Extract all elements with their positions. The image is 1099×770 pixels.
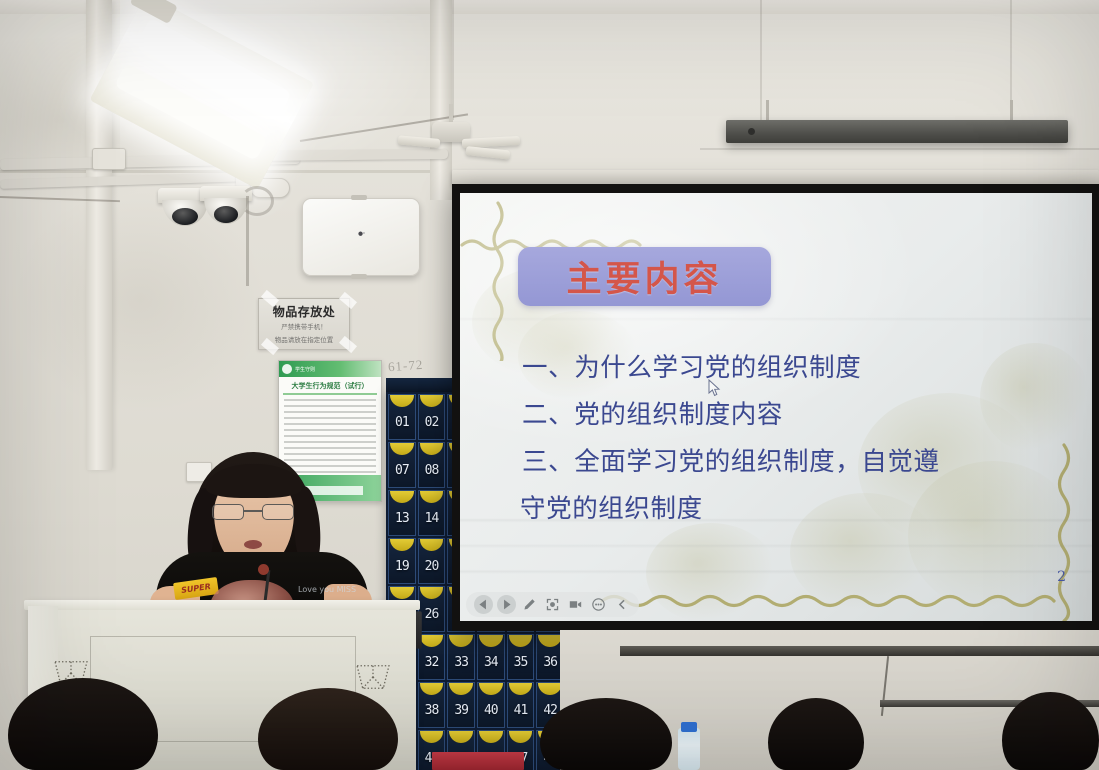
phone-pocket-number: 32 bbox=[419, 655, 445, 670]
ceiling-seam-4 bbox=[700, 148, 1099, 150]
presenter: SUPER Love you MISS bbox=[148, 452, 378, 620]
phone-pocket-number: 26 bbox=[419, 607, 445, 622]
phone-pocket[interactable]: 34 bbox=[477, 634, 505, 680]
poster-header-text: 学生守则 bbox=[295, 366, 315, 373]
phone-pocket-number: 20 bbox=[419, 559, 445, 574]
cup-motif-icon bbox=[354, 662, 392, 692]
next-slide-button[interactable] bbox=[497, 595, 516, 614]
decor-wavy-lines-right bbox=[1048, 443, 1082, 621]
phone-pocket[interactable]: 13 bbox=[388, 490, 416, 536]
camera-cable bbox=[246, 196, 249, 286]
ap-logo-icon: ● ⋅ bbox=[357, 228, 364, 239]
camera-lens bbox=[214, 206, 239, 223]
hanging-bar-dot bbox=[748, 128, 755, 135]
phone-pocket-number: 41 bbox=[508, 703, 534, 718]
phone-pocket-number: 33 bbox=[448, 655, 474, 670]
more-options-button[interactable] bbox=[589, 595, 608, 614]
poster-header: 学生守则 bbox=[279, 361, 381, 377]
slide-bullet-3: 三、全面学习党的组织制度，自觉遵 bbox=[522, 439, 1042, 486]
poster-divider bbox=[283, 393, 377, 395]
slide-body: 一、为什么学习党的组织制度 二、党的组织制度内容 三、全面学习党的组织制度，自觉… bbox=[522, 345, 1042, 533]
slide-bullet-2: 二、党的组织制度内容 bbox=[522, 392, 1042, 439]
slide-title-box: 主要内容 bbox=[518, 247, 771, 306]
microphone-head-icon bbox=[258, 564, 269, 575]
ap-tab bbox=[351, 195, 367, 200]
phone-pocket-number: 35 bbox=[508, 655, 534, 670]
phone-pocket[interactable]: 32 bbox=[418, 634, 446, 680]
red-book bbox=[432, 752, 524, 770]
poster-logo-icon bbox=[282, 364, 292, 374]
ceiling-seam-3 bbox=[452, 0, 454, 120]
phone-pocket[interactable]: 19 bbox=[388, 538, 416, 584]
collapse-toolbar-button[interactable] bbox=[612, 595, 631, 614]
glasses-bridge bbox=[244, 510, 262, 512]
phone-pocket-number: 07 bbox=[389, 463, 415, 478]
presenter-mouth bbox=[244, 540, 262, 549]
phone-pocket[interactable]: 38 bbox=[418, 682, 446, 728]
phone-pocket[interactable]: 40 bbox=[477, 682, 505, 728]
lectern-top-edge bbox=[24, 600, 420, 610]
phone-pocket[interactable]: 33 bbox=[447, 634, 475, 680]
presentation-toolbar[interactable] bbox=[466, 592, 639, 617]
phone-pocket-number: 19 bbox=[389, 559, 415, 574]
ceiling-seam-1 bbox=[760, 0, 762, 120]
watermark-blotch bbox=[646, 523, 776, 621]
phone-pocket-number: 40 bbox=[478, 703, 504, 718]
video-camera-icon bbox=[569, 598, 582, 611]
phone-pocket[interactable]: 20 bbox=[418, 538, 446, 584]
previous-slide-button[interactable] bbox=[474, 595, 493, 614]
phone-pocket-number: 34 bbox=[478, 655, 504, 670]
ceiling-conduit bbox=[248, 149, 448, 161]
phone-pocket[interactable]: 39 bbox=[447, 682, 475, 728]
projection-screen: 主要内容 一、为什么学习党的组织制度 二、党的组织制度内容 三、全面学习党的组织… bbox=[460, 193, 1092, 621]
wall-rail bbox=[620, 646, 1099, 656]
slide-number: 2 bbox=[1057, 569, 1066, 585]
lectern-motif-right bbox=[354, 662, 392, 692]
storage-sign-line1: 严禁携带手机！ bbox=[261, 323, 347, 333]
wall-pilaster-secondary bbox=[430, 0, 452, 200]
phone-pocket[interactable]: 35 bbox=[507, 634, 535, 680]
glasses-lens bbox=[212, 504, 244, 520]
phone-pocket[interactable]: 26 bbox=[418, 586, 446, 632]
decor-wavy-lines-bottom bbox=[600, 587, 1060, 613]
phone-pocket-number: 14 bbox=[419, 511, 445, 526]
ap-tab bbox=[351, 274, 367, 279]
phone-pocket-number: 39 bbox=[448, 703, 474, 718]
hanging-light-bar bbox=[726, 120, 1068, 143]
pen-button[interactable] bbox=[520, 595, 539, 614]
classroom-scene: ● ⋅ 物品存放处 严禁携带手机！ 物品请放在指定位置 学生守则 大学生行为规范… bbox=[0, 0, 1099, 770]
projection-screen-frame: 主要内容 一、为什么学习党的组织制度 二、党的组织制度内容 三、全面学习党的组织… bbox=[452, 184, 1099, 631]
bottle-cap bbox=[681, 722, 697, 732]
camera-lens bbox=[172, 208, 198, 225]
mouse-cursor-icon bbox=[708, 379, 721, 397]
chevron-left-icon bbox=[615, 598, 628, 611]
phone-pocket[interactable]: 07 bbox=[388, 442, 416, 488]
hanging-bar-rod bbox=[1010, 100, 1013, 122]
shirt-text: Love you MISS bbox=[298, 584, 356, 596]
glasses-lens bbox=[262, 504, 294, 520]
junction-box bbox=[92, 148, 126, 170]
poster-title: 大学生行为规范（试行） bbox=[279, 381, 381, 391]
phone-pocket-number: 38 bbox=[419, 703, 445, 718]
record-button[interactable] bbox=[566, 595, 585, 614]
phone-pocket[interactable]: 08 bbox=[418, 442, 446, 488]
phone-pocket[interactable]: 14 bbox=[418, 490, 446, 536]
slide-bullet-1: 一、为什么学习党的组织制度 bbox=[522, 345, 1042, 392]
spotlight-button[interactable] bbox=[543, 595, 562, 614]
phone-pocket-number: 13 bbox=[389, 511, 415, 526]
phone-pocket[interactable]: 41 bbox=[507, 682, 535, 728]
hanging-bar-rod bbox=[766, 100, 769, 122]
phone-pocket[interactable]: 02 bbox=[418, 394, 446, 440]
phone-pocket[interactable]: 01 bbox=[388, 394, 416, 440]
water-bottle bbox=[678, 728, 700, 770]
wall-handwriting: 61-72 bbox=[387, 357, 423, 375]
spotlight-icon bbox=[546, 598, 559, 611]
phone-pocket-number: 08 bbox=[419, 463, 445, 478]
ellipsis-icon bbox=[592, 598, 605, 611]
phone-pocket-number: 02 bbox=[419, 415, 445, 430]
wireless-ap-device: ● ⋅ bbox=[302, 198, 420, 276]
slide-title-text: 主要内容 bbox=[566, 251, 722, 302]
phone-pocket-number: 01 bbox=[389, 415, 415, 430]
triangle-right-icon bbox=[500, 598, 513, 611]
pen-icon bbox=[523, 598, 536, 611]
slide-bullet-3-continued: 守党的组织制度 bbox=[520, 486, 1042, 533]
triangle-left-icon bbox=[477, 598, 490, 611]
presenter-glasses-icon bbox=[212, 504, 296, 520]
